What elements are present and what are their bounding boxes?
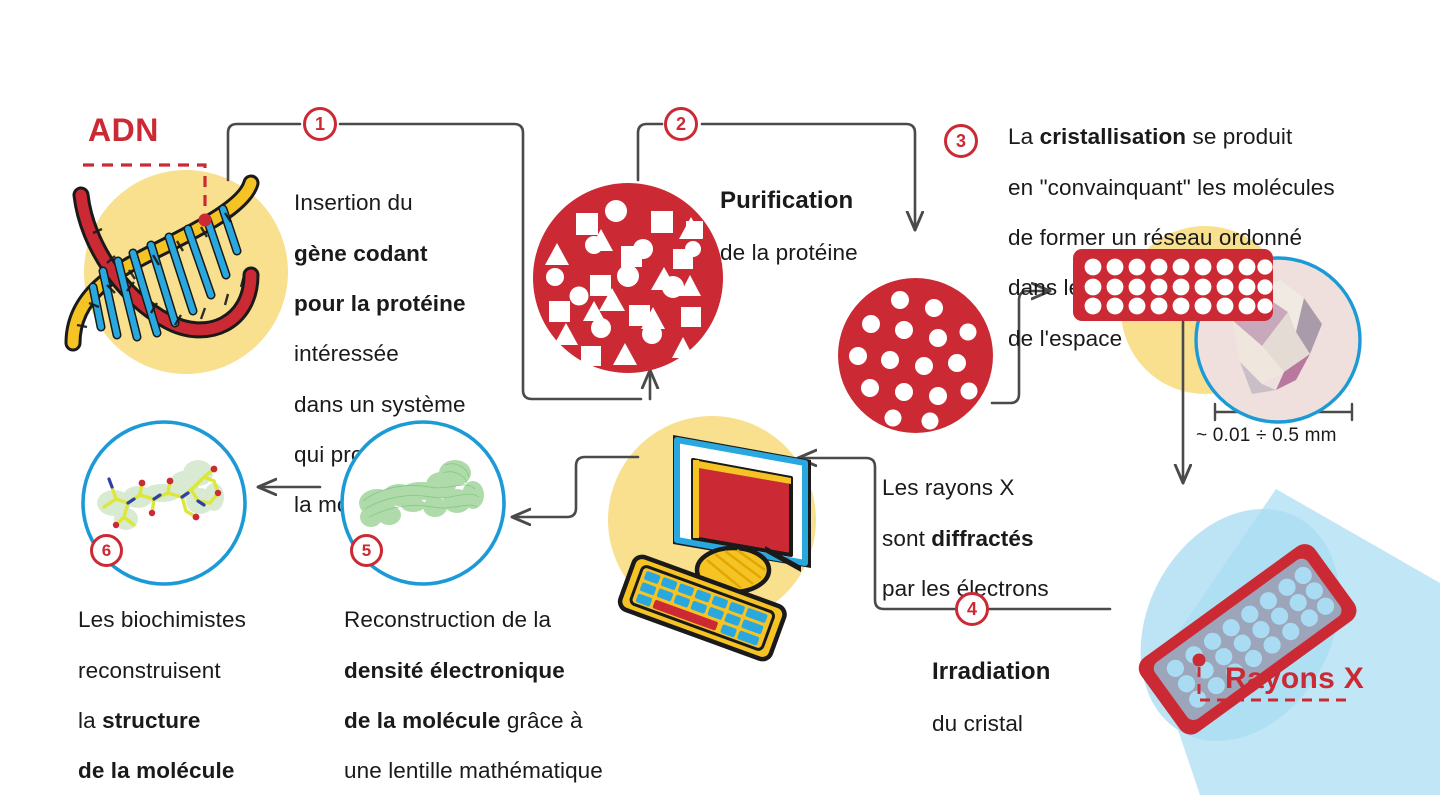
step-3-line-1-suffix: se produit [1186,124,1292,149]
step-badge-2[interactable]: 2 [664,107,698,141]
step-5-line-1: Reconstruction de la [344,607,694,632]
diffraction-line-1: Les rayons X [882,475,1102,500]
step-5-keyword: de la molécule [344,708,500,733]
step-4-text: Irradiation du cristal [932,634,1132,762]
step-5-line-3: de la molécule grâce à [344,708,694,733]
step-6-line-1: Les biochimistes [78,607,338,632]
step-badge-5[interactable]: 5 [350,534,383,567]
step-badge-1[interactable]: 1 [303,107,337,141]
step-2-line-1: Purification [720,188,940,215]
step-6-line-3-prefix: la [78,708,102,733]
diffraction-line-2-prefix: sont [882,526,931,551]
step-badge-3[interactable]: 3 [944,124,978,158]
step-3-line-1-prefix: La [1008,124,1040,149]
diffraction-callout-text: Les rayons X sont diffractés par les éle… [882,450,1102,626]
crystal-lattice-icon [1073,249,1273,321]
step-6-text: Les biochimistes reconstruisent la struc… [78,582,338,809]
step-1-line-4: intéressée [294,341,544,366]
step-6-line-2: reconstruisent [78,658,338,683]
adn-leader-line [80,150,250,240]
crystal-size-label: ~ 0.01 ÷ 0.5 mm [1196,425,1337,447]
step-3-line-2: en "convainquant" les molécules [1008,175,1438,200]
rayons-x-label: Rayons X [1225,662,1364,696]
step-5-text: Reconstruction de la densité électroniqu… [344,582,694,809]
step-badge-4[interactable]: 4 [955,592,989,626]
step-2-text: Purification de la protéine [720,163,940,291]
step-1-line-3: pour la protéine [294,291,544,316]
diffraction-keyword: diffractés [931,526,1033,551]
pure-protein-solution-icon [838,278,993,433]
diffraction-line-3: par les électrons [882,576,1102,601]
step-5-line-3-suffix: grâce à [500,708,582,733]
step-6-keyword: structure [102,708,200,733]
impure-protein-mixture-icon [533,183,723,373]
line-step2-left [638,124,662,180]
step-5-line-4: une lentille mathématique [344,758,694,783]
xray-beam-detector-icon [1080,455,1440,795]
diffraction-line-2: sont diffractés [882,526,1102,551]
adn-label: ADN [88,112,159,149]
step-1-line-1: Insertion du [294,190,544,215]
step-5-line-2: densité électronique [344,658,694,683]
step-3-keyword: cristallisation [1040,124,1187,149]
step-1-line-2: gène codant [294,241,544,266]
step-1-line-5: dans un système [294,392,544,417]
step-4-line-2: du cristal [932,711,1132,736]
step-2-line-2: de la protéine [720,240,940,265]
step-3-line-3: de former un réseau ordonné [1008,225,1438,250]
step-3-line-1: La cristallisation se produit [1008,124,1438,149]
step-6-line-4: de la molécule [78,758,338,783]
infographic-canvas: ADN Insertion du gène codant pour la pro… [0,0,1440,810]
step-4-line-1: Irradiation [932,659,1132,686]
step-6-line-3: la structure [78,708,338,733]
step-badge-6[interactable]: 6 [90,534,123,567]
